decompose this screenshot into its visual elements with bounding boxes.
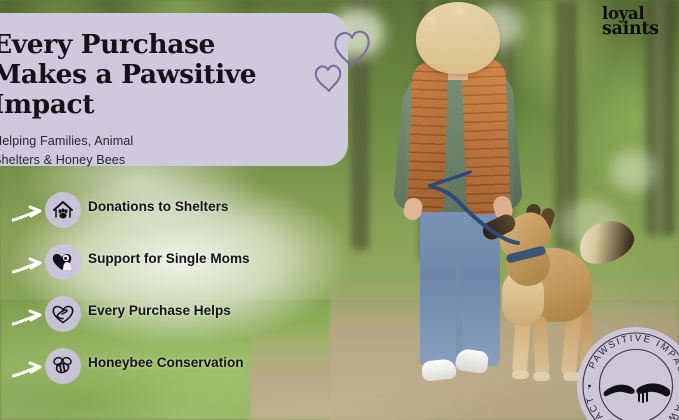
bee-icon [45,348,81,384]
feature-label: Honeybee Conservation [88,355,244,370]
pawsitive-impact-seal: PAWSITIVE IMPACT · PAWSITIVE IMPACT · [577,327,679,420]
list-item[interactable]: Honeybee Conservation [0,346,300,398]
promo-banner: Every Purchase Makes a Pawsitive Impact … [0,0,679,420]
feature-label: Donations to Shelters [88,199,228,214]
badge-text: PAWSITIVE IMPACT · PAWSITIVE IMPACT · [582,332,679,420]
arrow-right-icon [12,360,42,382]
headline-line-2: Makes a Pawsitive [0,60,312,90]
list-item[interactable]: Every Purchase Helps [0,294,300,346]
headline-card: Every Purchase Makes a Pawsitive Impact … [0,13,348,166]
subtitle-line-2: Shelters & Honey Bees [0,151,243,170]
arrow-right-icon [12,204,42,226]
arrow-right-icon [12,308,42,330]
feature-list: Donations to Shelters Support for Single… [0,190,300,398]
arrow-right-icon [12,256,42,278]
logo-line-2: saints [602,22,674,38]
feature-label: Every Purchase Helps [88,303,231,318]
headline-line-3: Impact [0,90,312,120]
list-item[interactable]: Support for Single Moms [0,242,300,294]
handshake-paw-icon [604,383,671,402]
brand-logo: loyal saints [602,6,674,37]
list-item[interactable]: Donations to Shelters [0,190,300,242]
svg-text:PAWSITIVE IMPACT · PAWSITIVE I: PAWSITIVE IMPACT · PAWSITIVE IMPACT · [582,332,679,420]
heart-mother-child-icon [45,244,81,280]
subtitle: Helping Families, Animal Shelters & Hone… [0,132,243,170]
heart-hand-icon [45,296,81,332]
page-title: Every Purchase Makes a Pawsitive Impact [0,30,312,120]
house-paw-icon [45,192,81,228]
status-badge: PAWSITIVE IMPACT · PAWSITIVE IMPACT · [577,327,679,420]
feature-label: Support for Single Moms [88,251,250,266]
subtitle-line-1: Helping Families, Animal [0,132,243,151]
headline-line-1: Every Purchase [0,30,312,60]
heart-doodle-icon [306,22,376,98]
